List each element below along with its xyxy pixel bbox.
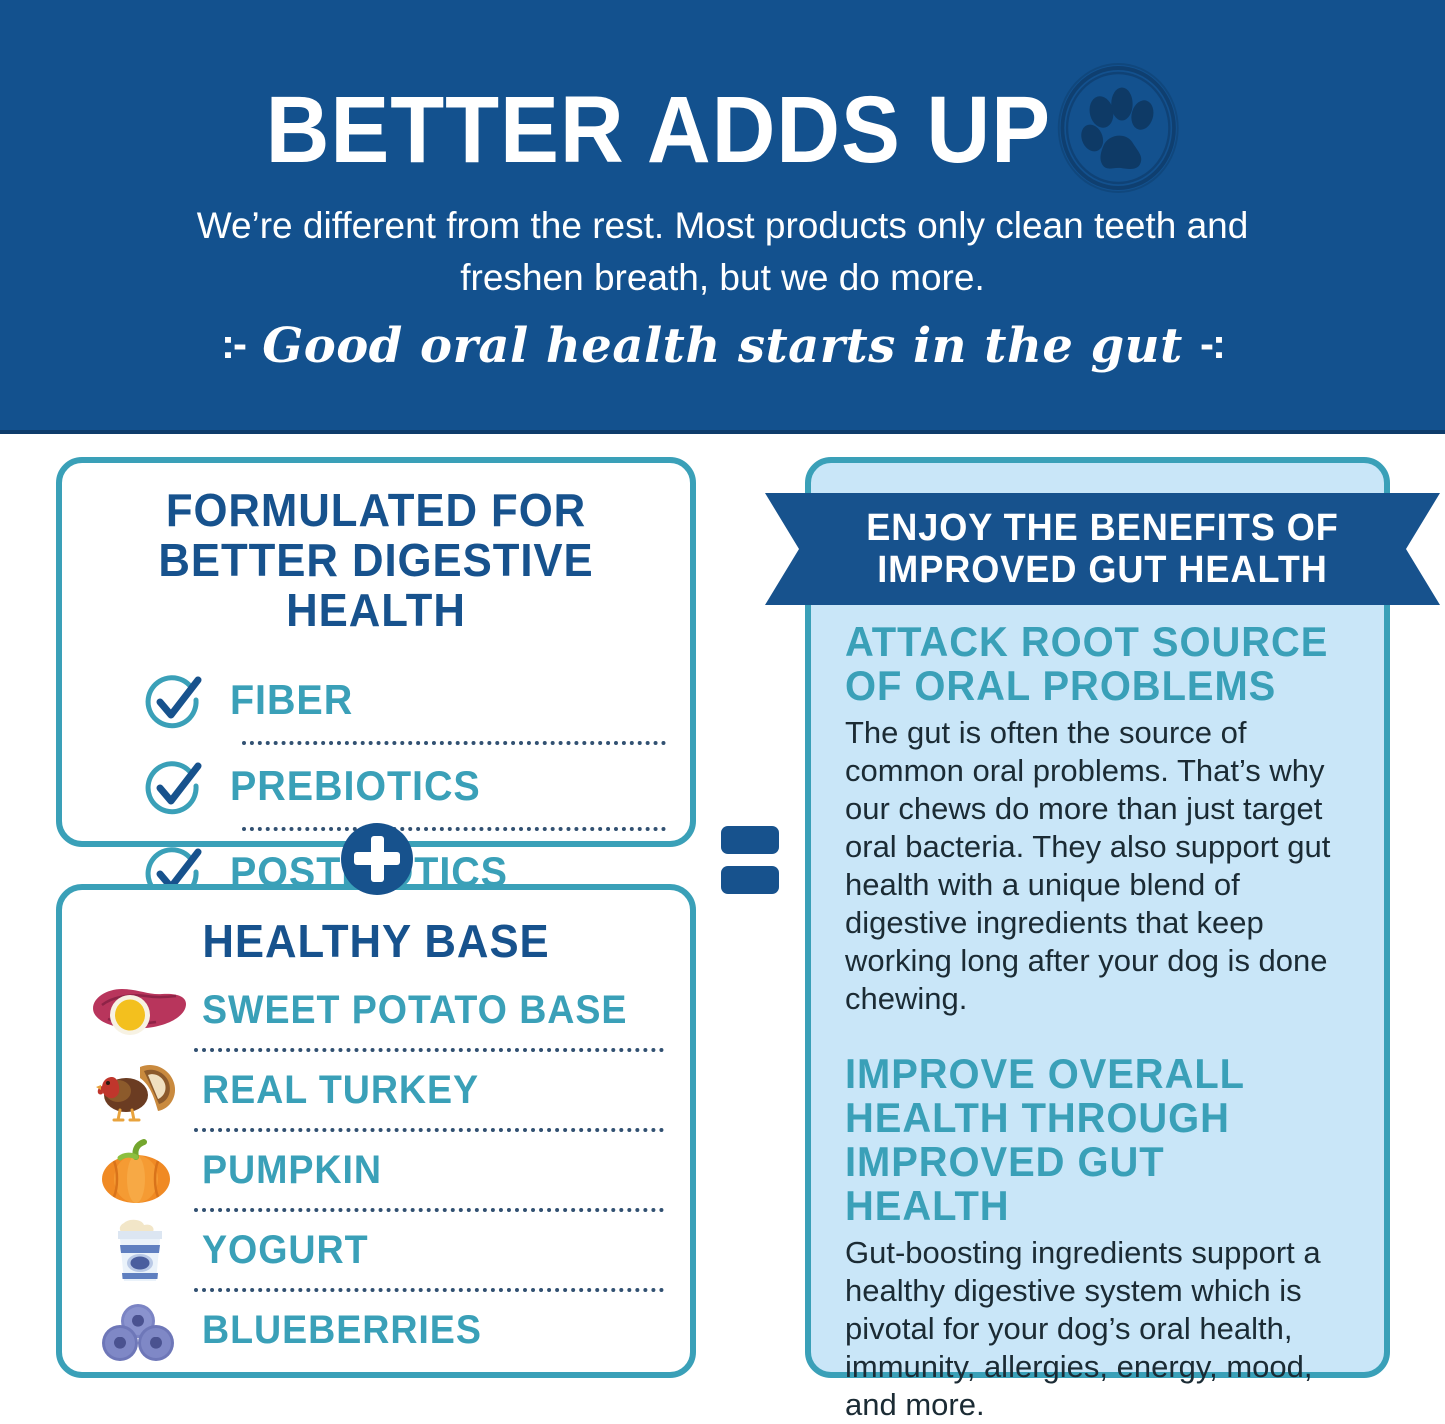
divider (194, 1128, 664, 1132)
divider (194, 1208, 664, 1212)
list-item-label: SWEET POTATO BASE (202, 988, 627, 1033)
plus-circle-icon (341, 823, 413, 895)
divider (242, 741, 666, 745)
yogurt-cup-icon (84, 1215, 192, 1285)
benefits-body: ATTACK ROOT SOURCE OF ORAL PROBLEMS The … (845, 620, 1355, 1424)
list-item: BLUEBERRIES (62, 1292, 690, 1368)
list-item: SWEET POTATO BASE (62, 972, 690, 1048)
turkey-icon (84, 1055, 192, 1125)
list-item: PREBIOTICS (62, 745, 690, 827)
list-item: REAL TURKEY (62, 1052, 690, 1128)
pumpkin-icon (84, 1135, 192, 1205)
blueberries-icon (84, 1295, 192, 1365)
healthy-base-card-title: HEALTHY BASE (91, 916, 661, 966)
paw-print-icon (1057, 62, 1180, 194)
list-item: FIBER (62, 659, 690, 741)
page-title-text: BETTER ADDS UP (266, 77, 1051, 183)
healthy-base-card: HEALTHY BASE SWEET POTATO BASE (56, 884, 696, 1378)
title-row: BETTER ADDS UP (266, 62, 1180, 194)
list-item-label: BLUEBERRIES (202, 1308, 482, 1353)
divider (194, 1048, 664, 1052)
script-dash-right: -: (1200, 320, 1224, 368)
header-script-line: :- Good oral health starts in the gut -: (123, 318, 1323, 374)
divider (242, 827, 666, 831)
divider (194, 1288, 664, 1292)
check-circle-icon (144, 756, 204, 816)
list-item-label: FIBER (230, 676, 353, 724)
header-banner: BETTER ADDS UP We’re different from the … (0, 0, 1445, 434)
benefit-heading-2: IMPROVE OVERALL HEALTH THROUGH IMPROVED … (845, 1052, 1330, 1228)
formulated-card-title: FORMULATED FOR BETTER DIGESTIVE HEALTH (91, 485, 661, 635)
list-item-label: YOGURT (202, 1228, 368, 1273)
list-item-label: PUMPKIN (202, 1148, 382, 1193)
script-dash-left: :- (221, 320, 245, 368)
check-circle-icon (144, 670, 204, 730)
benefits-ribbon-title: ENJOY THE BENEFITS OF IMPROVED GUT HEALT… (782, 507, 1423, 591)
ingredient-list: SWEET POTATO BASE REAL TU (62, 972, 690, 1368)
list-item: YOGURT (62, 1212, 690, 1288)
script-line-text: Good oral health starts in the gut (262, 318, 1183, 374)
list-item-label: PREBIOTICS (230, 762, 481, 810)
list-item: PUMPKIN (62, 1132, 690, 1208)
equals-bar-bottom (721, 866, 779, 894)
benefits-ribbon: ENJOY THE BENEFITS OF IMPROVED GUT HEALT… (765, 493, 1440, 605)
equals-sign-icon (721, 826, 779, 908)
benefit-text-2: Gut-boosting ingredients support a healt… (845, 1234, 1355, 1424)
benefit-text-1: The gut is often the source of common or… (845, 714, 1355, 1018)
formulated-card: FORMULATED FOR BETTER DIGESTIVE HEALTH F… (56, 457, 696, 847)
header-subtitle: We’re different from the rest. Most prod… (183, 200, 1263, 304)
page-title: BETTER ADDS UP (51, 62, 1395, 194)
equals-bar-top (721, 826, 779, 854)
benefit-heading-1: ATTACK ROOT SOURCE OF ORAL PROBLEMS (845, 620, 1330, 708)
sweet-potato-icon (84, 975, 192, 1045)
list-item-label: REAL TURKEY (202, 1068, 479, 1113)
